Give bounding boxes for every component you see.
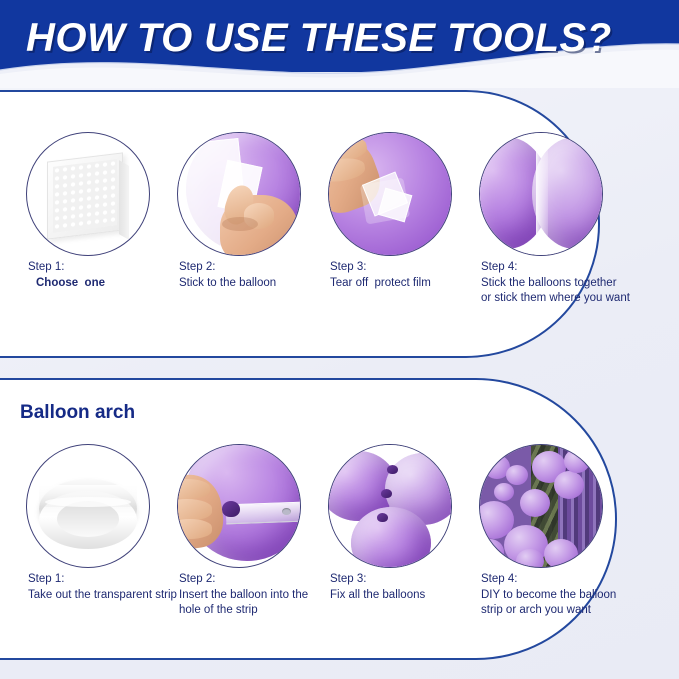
step-description: Stick the balloons together or stick the… [481, 276, 630, 306]
step-image-tear-off-film [328, 132, 452, 256]
step-image-fix-all-balloons [328, 444, 452, 568]
step-description: Insert the balloon into the hole of the … [179, 588, 308, 618]
step-description: Take out the transparent strip [28, 588, 177, 603]
step-image-glue-dot-sheet [26, 132, 150, 256]
step-image-balloons-together [479, 132, 603, 256]
step-description: Fix all the balloons [330, 588, 425, 603]
step-description: Choose one [36, 276, 105, 291]
step-image-finished-arch [479, 444, 603, 568]
step-list-1: Step 1: Choose one [2, 92, 598, 356]
step-number: Step 3: [330, 260, 366, 275]
page-header: HOW TO USE THESE TOOLS? [0, 0, 679, 88]
step-image-insert-balloon-into-strip [177, 444, 301, 568]
step-number: Step 2: [179, 572, 215, 587]
panel-balloon-arch: Balloon arch Step 1: Take out t [0, 378, 617, 660]
step-number: Step 4: [481, 572, 517, 587]
step-number: Step 4: [481, 260, 517, 275]
step-number: Step 2: [179, 260, 215, 275]
step-image-transparent-strip-roll [26, 444, 150, 568]
step-list-2: Step 1: Take out the transparent strip [2, 380, 615, 658]
step-description: Stick to the balloon [179, 276, 276, 291]
step-image-stick-to-balloon [177, 132, 301, 256]
step-number: Step 1: [28, 260, 64, 275]
page-background: HOW TO USE THESE TOOLS? Step 1: Choose o… [0, 0, 679, 679]
step-description: Tear off protect film [330, 276, 431, 291]
step-description: DIY to become the balloon strip or arch … [481, 588, 616, 618]
page-title: HOW TO USE THESE TOOLS? [26, 16, 612, 61]
step-number: Step 3: [330, 572, 366, 587]
step-number: Step 1: [28, 572, 64, 587]
panel-basic-steps: Step 1: Choose one [0, 90, 600, 358]
